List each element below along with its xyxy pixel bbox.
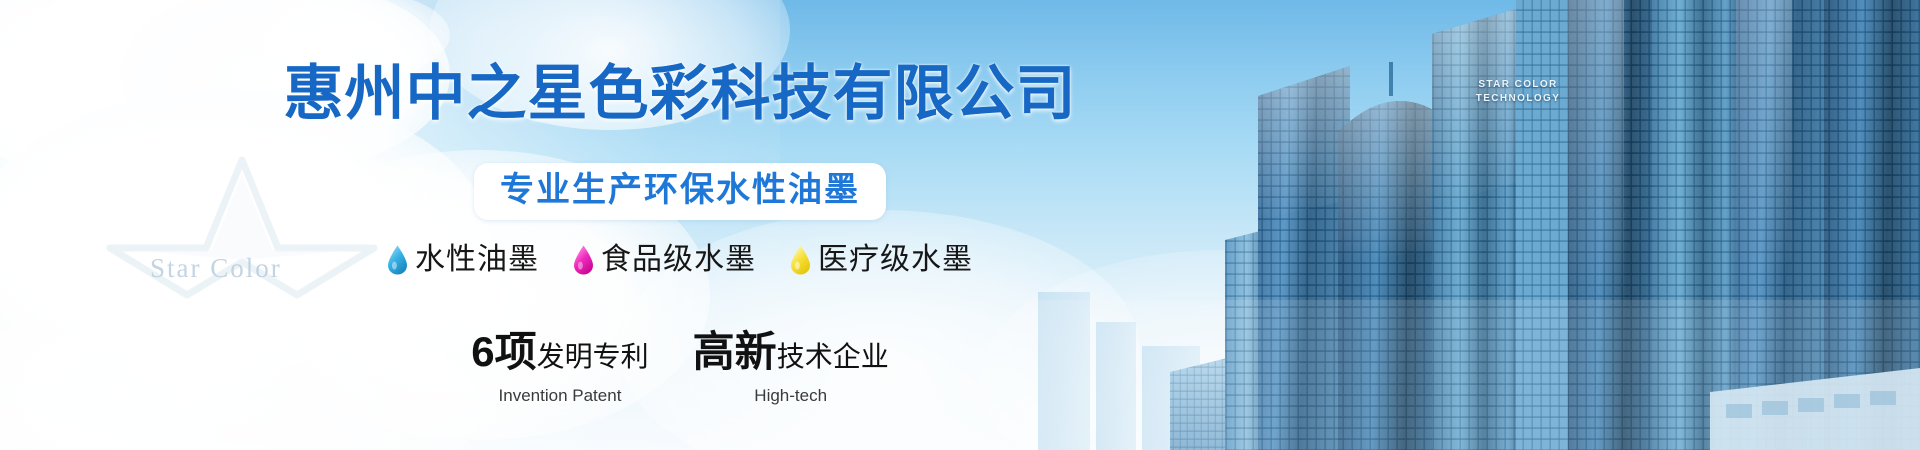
building-brand-label: STAR COLOR TECHNOLOGY (1473, 78, 1563, 106)
badge-cn-line: 高新技术企业 (693, 330, 889, 384)
water-drop-icon (387, 245, 408, 275)
badge-cn-suffix: 发明专利 (537, 341, 649, 372)
badge-number: 高新 (693, 328, 777, 375)
list-item: 食品级水墨 (573, 243, 756, 277)
company-hero-banner: Star Color (0, 0, 1920, 450)
water-drop-icon (790, 245, 811, 275)
badge-en-label: High-tech (693, 385, 889, 407)
badge-invention-patent: 6项发明专利 Invention Patent (471, 330, 648, 407)
badge-cn-line: 6项发明专利 (471, 330, 648, 384)
water-drop-icon (573, 245, 594, 275)
feature-list: 水性油墨 食品级水墨 (0, 243, 1360, 277)
list-item-label: 水性油墨 (415, 243, 539, 277)
subtitle-pill: 专业生产环保水性油墨 (474, 163, 886, 220)
list-item: 水性油墨 (387, 243, 539, 277)
list-item-label: 食品级水墨 (601, 243, 756, 277)
badge-high-tech: 高新技术企业 High-tech (693, 330, 889, 407)
page-title: 惠州中之星色彩科技有限公司 (0, 60, 1360, 128)
credential-badges: 6项发明专利 Invention Patent 高新技术企业 High-tech (0, 330, 1360, 407)
badge-number: 6项 (471, 328, 536, 375)
list-item-label: 医疗级水墨 (818, 243, 973, 277)
banner-content: 惠州中之星色彩科技有限公司 专业生产环保水性油墨 水性油 (0, 0, 1360, 450)
badge-cn-suffix: 技术企业 (777, 341, 889, 372)
list-item: 医疗级水墨 (790, 243, 973, 277)
badge-en-label: Invention Patent (471, 385, 648, 407)
subtitle-row: 专业生产环保水性油墨 (0, 163, 1360, 220)
